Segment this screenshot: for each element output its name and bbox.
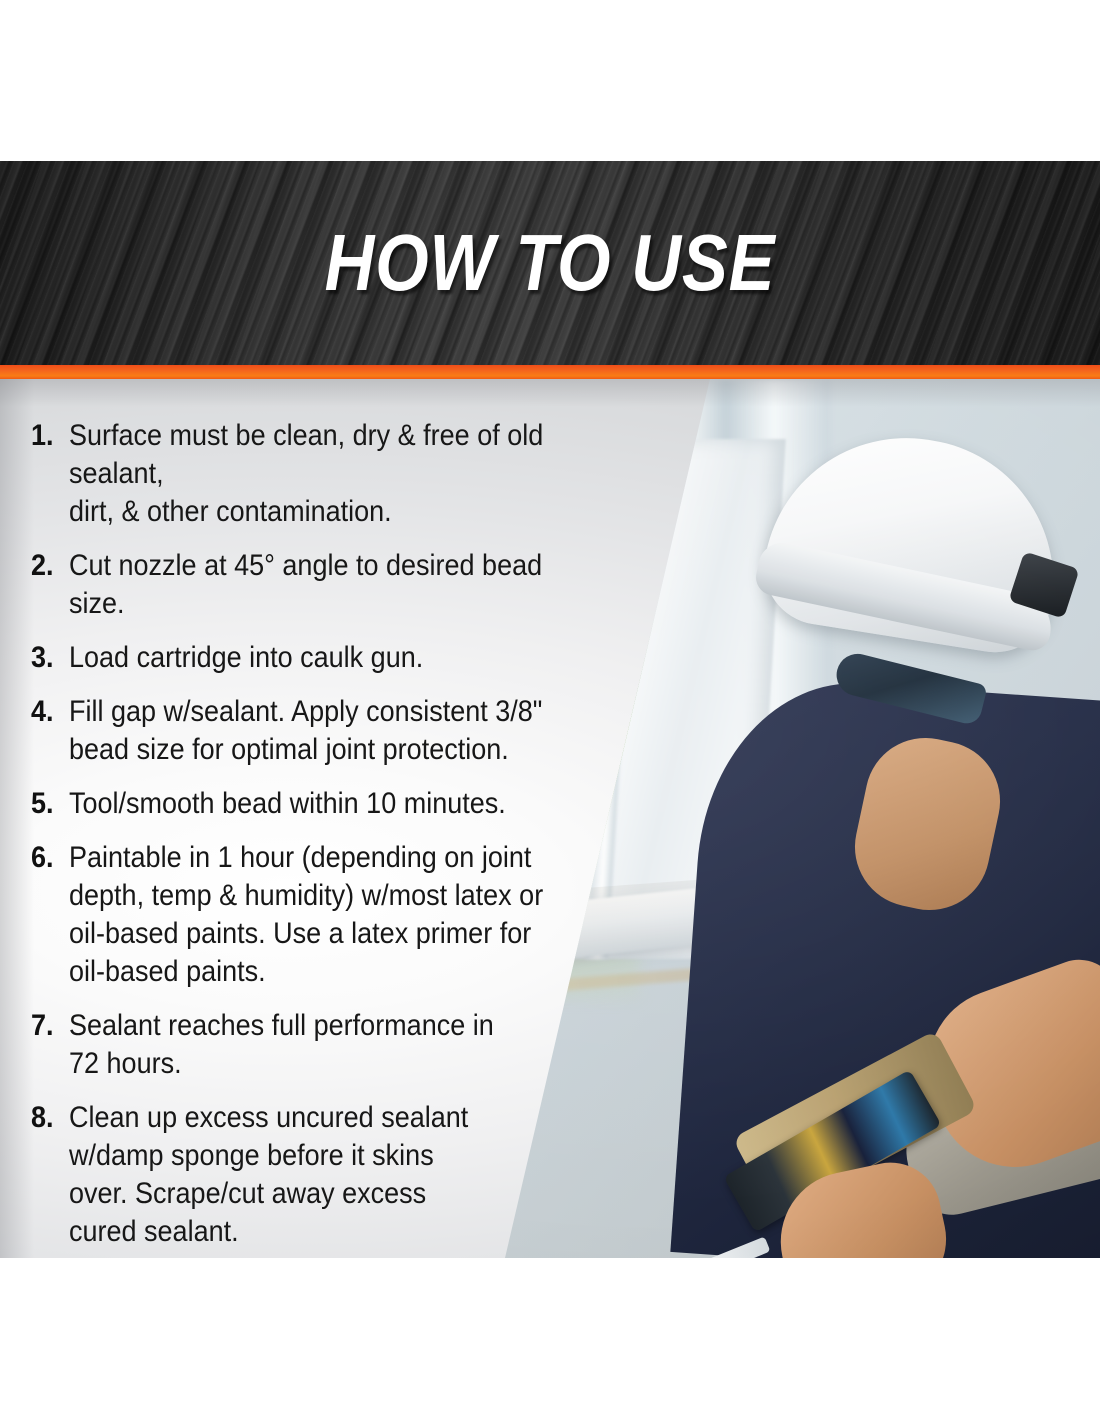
list-item-text: Tool/smooth bead within 10 minutes. <box>69 785 601 823</box>
bottom-white-margin <box>0 1258 1100 1422</box>
list-item: 1. Surface must be clean, dry & free of … <box>0 417 660 531</box>
list-item-text: Sealant reaches full performance in 72 h… <box>69 1007 573 1083</box>
list-item-text: Paintable in 1 hour (depending on joint … <box>69 839 601 991</box>
list-item-text: Clean up excess uncured sealant w/damp s… <box>69 1099 573 1251</box>
list-item: 2. Cut nozzle at 45° angle to desired be… <box>0 547 660 623</box>
list-item-number: 4. <box>31 693 65 731</box>
list-item: 5. Tool/smooth bead within 10 minutes. <box>0 785 660 823</box>
list-item: 4. Fill gap w/sealant. Apply consistent … <box>0 693 660 769</box>
page-title: HOW TO USE <box>77 161 1023 365</box>
orange-accent-rule <box>0 365 1100 379</box>
header-banner: HOW TO USE <box>0 161 1100 365</box>
list-item-text: Load cartridge into caulk gun. <box>69 639 601 677</box>
list-item-text: Fill gap w/sealant. Apply consistent 3/8… <box>69 693 601 769</box>
instruction-list: 1. Surface must be clean, dry & free of … <box>0 379 660 1258</box>
list-item-text: Surface must be clean, dry & free of old… <box>69 417 601 531</box>
list-item-number: 8. <box>31 1099 65 1137</box>
list-item: 7. Sealant reaches full performance in 7… <box>0 1007 660 1083</box>
list-item-number: 3. <box>31 639 65 677</box>
list-item: 3. Load cartridge into caulk gun. <box>0 639 660 677</box>
list-item-number: 5. <box>31 785 65 823</box>
list-item-text: Cut nozzle at 45° angle to desired bead … <box>69 547 601 623</box>
list-item-number: 2. <box>31 547 65 585</box>
list-item-number: 6. <box>31 839 65 877</box>
list-item-number: 1. <box>31 417 65 455</box>
list-item: 6. Paintable in 1 hour (depending on joi… <box>0 839 660 991</box>
how-to-use-panel: HOW TO USE <box>0 0 1100 1422</box>
list-item-number: 7. <box>31 1007 65 1045</box>
top-white-margin <box>0 0 1100 161</box>
list-item: 8. Clean up excess uncured sealant w/dam… <box>0 1099 660 1251</box>
